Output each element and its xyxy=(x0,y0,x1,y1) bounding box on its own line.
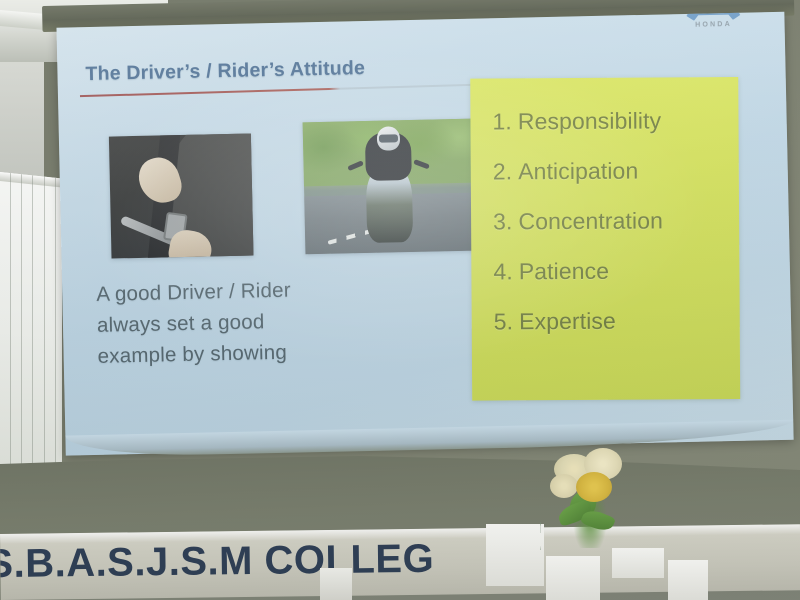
helmet-visor xyxy=(379,134,398,142)
list-item: 5.Expertise xyxy=(494,307,740,336)
flower-bloom xyxy=(576,472,612,502)
list-item-number: 1. xyxy=(492,108,512,134)
list-item-label: Anticipation xyxy=(518,158,638,185)
left-upper-wall xyxy=(0,58,44,178)
foreground-object xyxy=(546,556,600,600)
motorcycle-rider-photo xyxy=(303,119,476,255)
seatbelt-photo xyxy=(109,133,254,258)
room-scene: HONDA The Driver’s / Rider’s Attitude xyxy=(0,0,800,600)
honda-logo-text: HONDA xyxy=(677,21,751,30)
attitude-list: 1.Responsibility 2.Anticipation 3.Concen… xyxy=(470,77,740,336)
flower-arrangement xyxy=(528,446,648,550)
flower-bloom xyxy=(550,474,578,498)
screen-surface: HONDA The Driver’s / Rider’s Attitude xyxy=(56,12,793,456)
dried-sprig xyxy=(540,522,618,550)
foreground-object xyxy=(320,568,352,600)
list-item-number: 2. xyxy=(493,158,513,184)
projection-screen: HONDA The Driver’s / Rider’s Attitude xyxy=(42,0,800,468)
list-item: 4.Patience xyxy=(493,257,739,286)
list-item-label: Concentration xyxy=(518,207,663,234)
body-line-3: example by showing xyxy=(97,333,438,371)
slide-title: The Driver’s / Rider’s Attitude xyxy=(85,57,365,86)
list-item-label: Responsibility xyxy=(518,107,661,134)
honda-wing-icon xyxy=(686,12,740,21)
foreground-object xyxy=(668,560,708,600)
list-item-label: Patience xyxy=(519,258,609,285)
attitude-list-box: 1.Responsibility 2.Anticipation 3.Concen… xyxy=(470,77,740,401)
list-item: 3.Concentration xyxy=(493,207,739,236)
slide-body-text: A good Driver / Rider always set a good … xyxy=(96,271,438,371)
presentation-slide: HONDA The Driver’s / Rider’s Attitude xyxy=(56,12,793,456)
list-item-number: 3. xyxy=(493,208,513,234)
honda-logo: HONDA xyxy=(676,12,750,29)
list-item-label: Expertise xyxy=(519,308,616,335)
list-item-number: 5. xyxy=(494,308,514,334)
list-item: 2.Anticipation xyxy=(493,157,739,186)
foreground-object xyxy=(612,548,664,578)
list-item: 1.Responsibility xyxy=(492,107,738,136)
list-item-number: 4. xyxy=(493,258,513,284)
